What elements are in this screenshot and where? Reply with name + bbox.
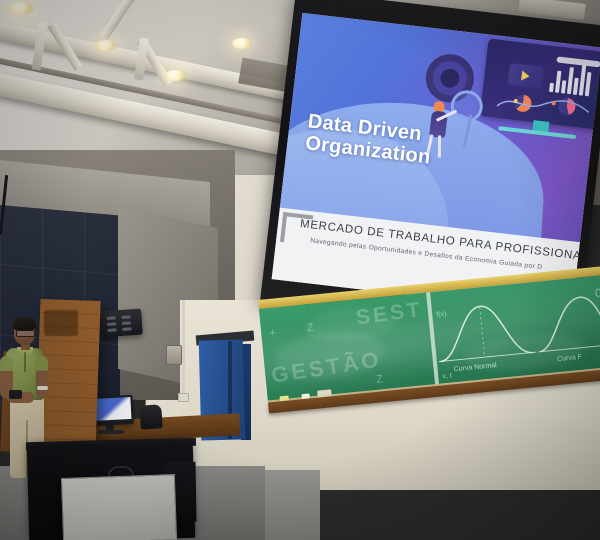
presenter-glasses (16, 330, 35, 337)
presenter-clicker (9, 390, 22, 399)
wall-outlet (178, 393, 189, 402)
chalk-ghost-text-left: SEST (355, 298, 424, 331)
podium-emblem (44, 310, 78, 336)
leaning-panel[interactable] (61, 474, 177, 540)
presenter-wristwatch (37, 386, 48, 390)
chalk-right-mark: 00 (594, 285, 600, 300)
wall-switch-box[interactable] (166, 345, 182, 365)
illustration-play-icon (507, 63, 543, 89)
illustration-monitor (480, 38, 600, 129)
chair[interactable] (139, 404, 163, 429)
ceiling-light-3 (165, 70, 186, 81)
ceiling-light-1 (8, 2, 34, 15)
ceiling-light-2 (95, 40, 117, 51)
presenter-arm-right (36, 356, 48, 398)
ceiling-light-4 (232, 38, 252, 49)
lecture-hall-photo: Data Driven Organization MERCADO DE TRAB… (0, 0, 600, 540)
wall-speaker (99, 309, 143, 338)
presenter-shirt-placket (24, 352, 26, 372)
chalk-axis-note-left: f(x) (436, 311, 447, 319)
presenter-hair (13, 317, 36, 331)
illustration-bar-chart (549, 60, 598, 97)
slide-surface: Data Driven Organization MERCADO DE TRAB… (272, 13, 600, 314)
slide-upper-panel: Data Driven Organization (280, 13, 600, 242)
chalk-axis-note-lower: x, t (442, 372, 452, 380)
wall-conduit (182, 300, 185, 395)
